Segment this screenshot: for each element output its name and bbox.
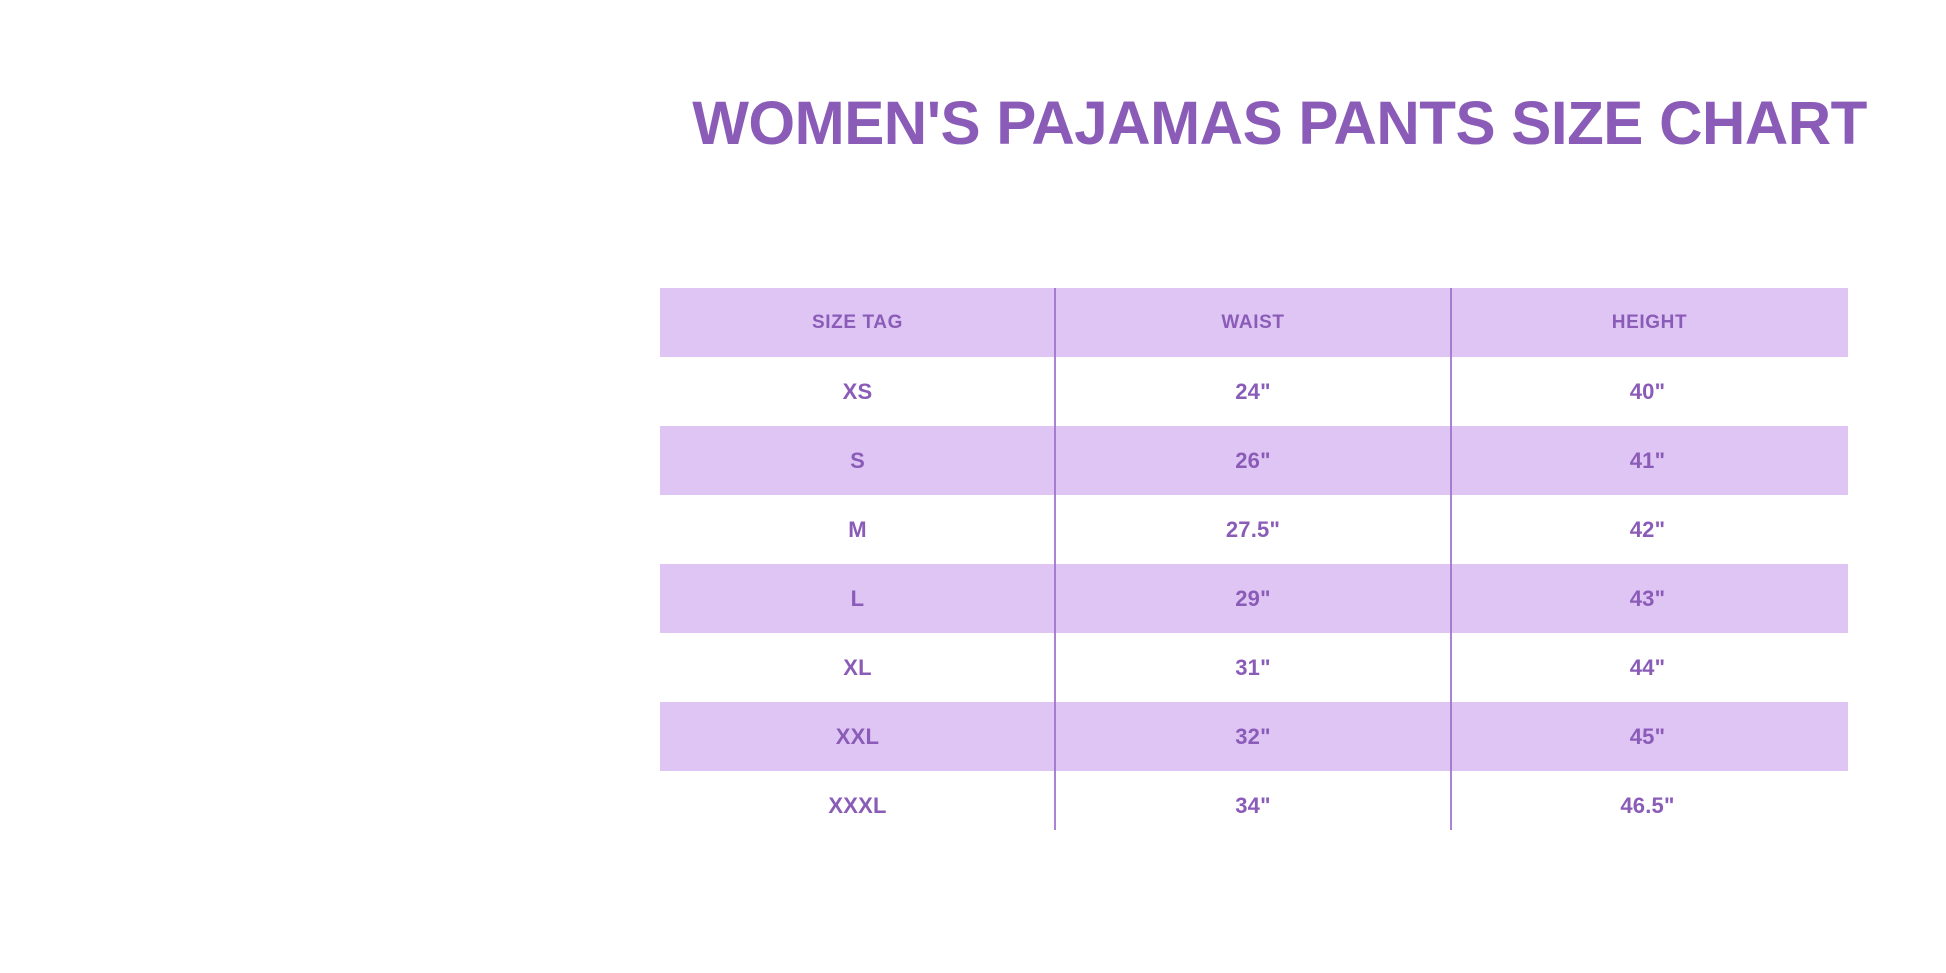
cell-size-tag: L xyxy=(660,564,1055,633)
cell-height: 46.5" xyxy=(1451,771,1848,840)
table-row: XS 24" 40" xyxy=(660,357,1848,426)
column-header-height: HEIGHT xyxy=(1451,288,1848,357)
cell-height: 41" xyxy=(1451,426,1848,495)
cell-size-tag: XXL xyxy=(660,702,1055,771)
cell-size-tag: XS xyxy=(660,357,1055,426)
table-row: M 27.5" 42" xyxy=(660,495,1848,564)
cell-size-tag: S xyxy=(660,426,1055,495)
cell-height: 43" xyxy=(1451,564,1848,633)
size-chart-page: WOMEN'S PAJAMAS PANTS SIZE CHART SIZE TA… xyxy=(0,0,1946,973)
table-row: S 26" 41" xyxy=(660,426,1848,495)
cell-waist: 24" xyxy=(1055,357,1451,426)
cell-waist: 29" xyxy=(1055,564,1451,633)
table-row: L 29" 43" xyxy=(660,564,1848,633)
column-divider-2 xyxy=(1450,288,1452,830)
cell-height: 40" xyxy=(1451,357,1848,426)
table-row: XXXL 34" 46.5" xyxy=(660,771,1848,840)
column-header-waist: WAIST xyxy=(1055,288,1451,357)
table-header-row: SIZE TAG WAIST HEIGHT xyxy=(660,288,1848,357)
cell-size-tag: M xyxy=(660,495,1055,564)
table-body: XS 24" 40" S 26" 41" M 27.5" 42" L 29" 4… xyxy=(660,357,1848,840)
cell-size-tag: XL xyxy=(660,633,1055,702)
cell-waist: 34" xyxy=(1055,771,1451,840)
cell-waist: 26" xyxy=(1055,426,1451,495)
table-header: SIZE TAG WAIST HEIGHT xyxy=(660,288,1848,357)
column-divider-1 xyxy=(1054,288,1056,830)
cell-height: 45" xyxy=(1451,702,1848,771)
cell-height: 42" xyxy=(1451,495,1848,564)
column-header-size-tag: SIZE TAG xyxy=(660,288,1055,357)
cell-size-tag: XXXL xyxy=(660,771,1055,840)
cell-height: 44" xyxy=(1451,633,1848,702)
table-row: XXL 32" 45" xyxy=(660,702,1848,771)
cell-waist: 27.5" xyxy=(1055,495,1451,564)
size-chart-table: SIZE TAG WAIST HEIGHT XS 24" 40" S 26" 4… xyxy=(660,288,1848,840)
table-row: XL 31" 44" xyxy=(660,633,1848,702)
cell-waist: 31" xyxy=(1055,633,1451,702)
cell-waist: 32" xyxy=(1055,702,1451,771)
page-title: WOMEN'S PAJAMAS PANTS SIZE CHART xyxy=(658,92,1901,154)
